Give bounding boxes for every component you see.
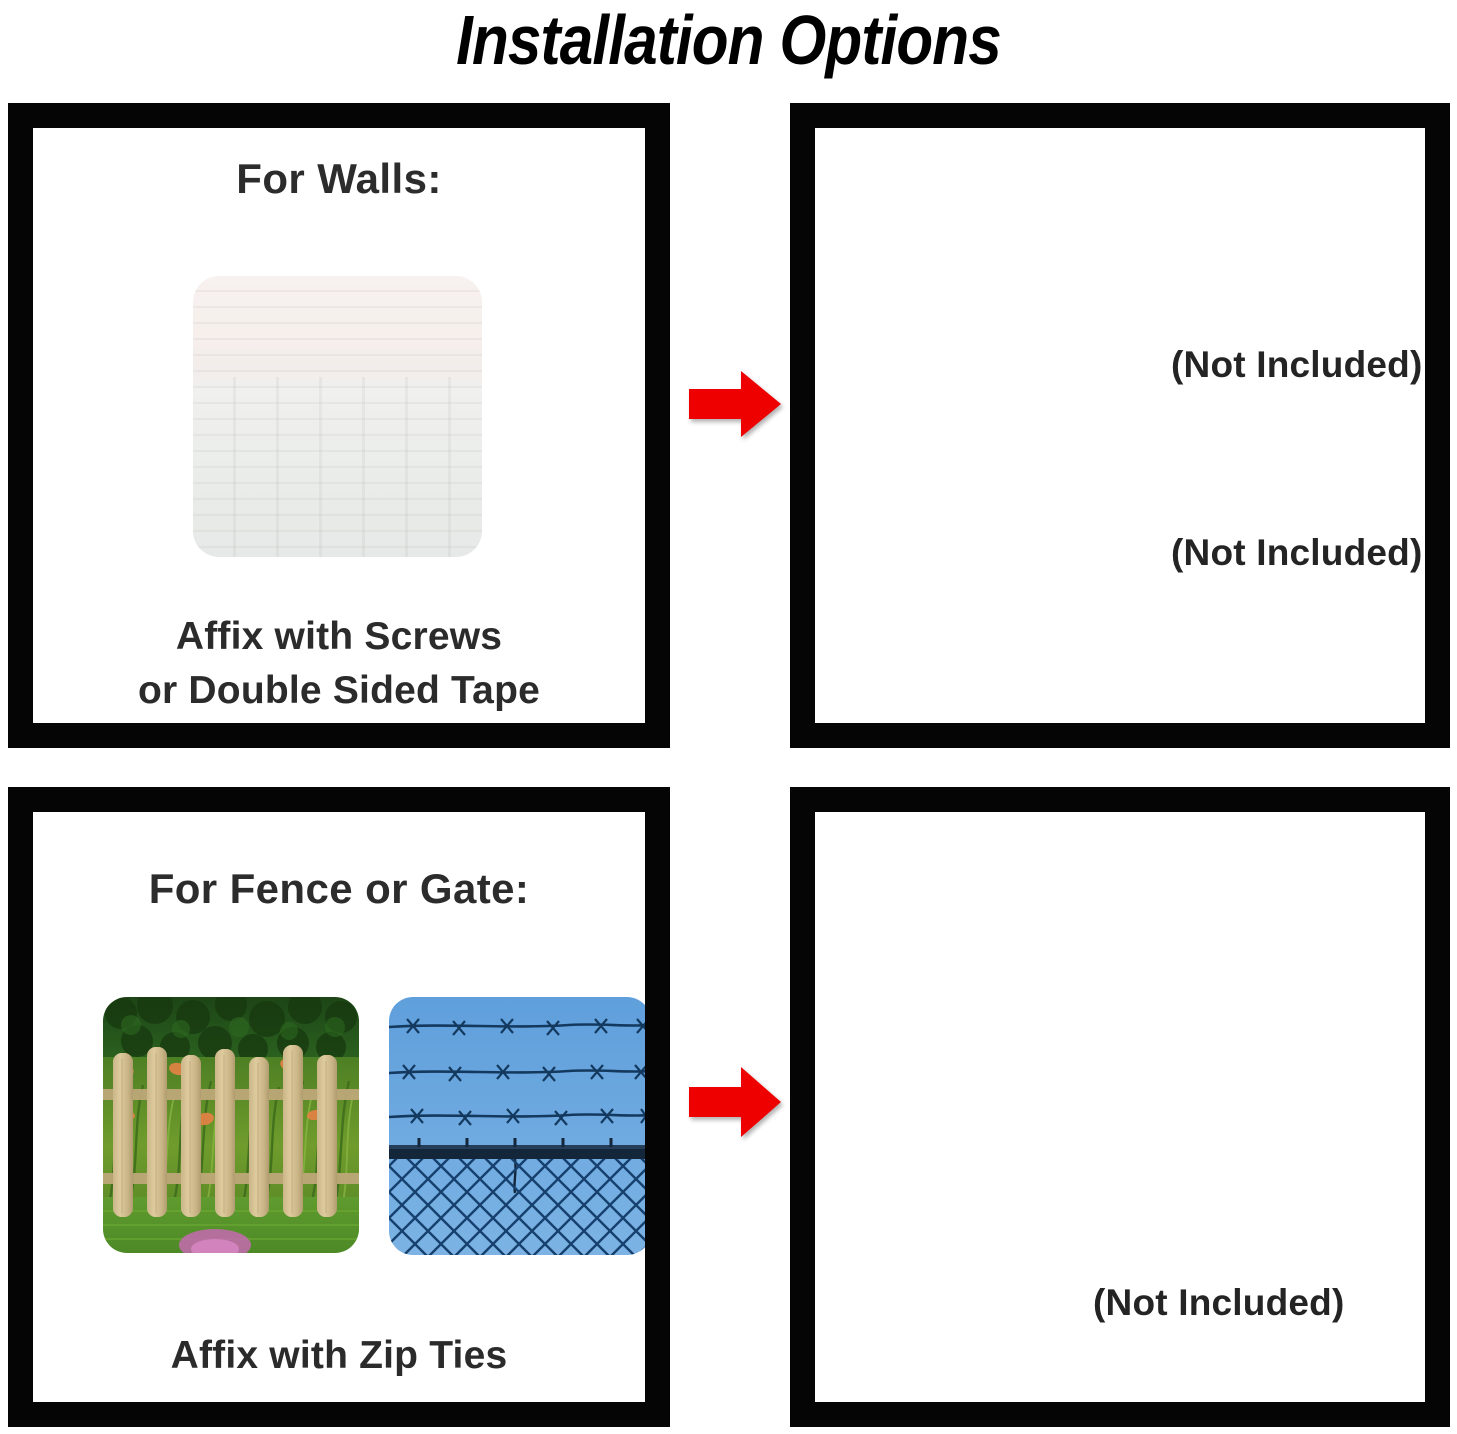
- caption-line-2: or Double Sided Tape: [33, 664, 645, 718]
- white-brick-wall-image: [193, 276, 482, 557]
- right-arrow-icon: [689, 371, 781, 437]
- installation-options-infographic: Installation Options For Walls: Affix wi…: [0, 0, 1457, 1434]
- panel-for-walls: For Walls: Affix with Screws or Double S…: [8, 103, 670, 748]
- not-included-label-screws: (Not Included): [1171, 532, 1422, 574]
- panel-wall-hardware: (Not Included): [790, 103, 1450, 748]
- panel-for-fence-or-gate: For Fence or Gate:: [8, 787, 670, 1427]
- not-included-label-tape: (Not Included): [1171, 344, 1422, 386]
- page-title: Installation Options: [102, 0, 1355, 86]
- caption-line-1: Affix with Screws: [33, 610, 645, 664]
- panel-caption-for-walls: Affix with Screws or Double Sided Tape: [33, 610, 645, 718]
- panel-heading-for-fence: For Fence or Gate:: [33, 865, 645, 913]
- right-arrow-icon: [689, 1067, 781, 1137]
- wooden-picket-fence-image: [103, 997, 359, 1253]
- not-included-label-zip-ties: (Not Included): [1093, 1282, 1344, 1324]
- panel-caption-for-fence: Affix with Zip Ties: [33, 1329, 645, 1383]
- panel-heading-for-walls: For Walls:: [33, 155, 645, 203]
- barbed-wire-chain-link-fence-image: [389, 997, 645, 1255]
- panel-zip-ties: (Not Included): [790, 787, 1450, 1427]
- caption-line-1: Affix with Zip Ties: [33, 1329, 645, 1383]
